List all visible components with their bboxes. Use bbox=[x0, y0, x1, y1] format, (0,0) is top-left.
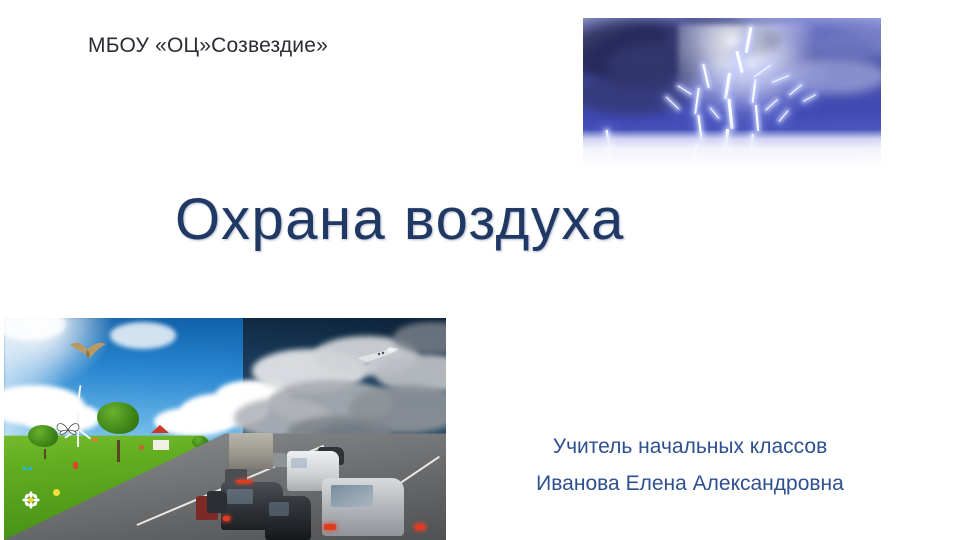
bird-icon bbox=[68, 338, 108, 364]
suv-rear-window bbox=[227, 489, 253, 504]
storm-cloud bbox=[815, 30, 881, 60]
car-side-window bbox=[269, 502, 289, 516]
author-name: Иванова Елена Александровна bbox=[480, 465, 900, 502]
bush-trunk bbox=[44, 449, 46, 459]
tail-light bbox=[415, 524, 425, 530]
dark-car bbox=[207, 491, 227, 513]
house-roof bbox=[151, 425, 169, 433]
tree-trunk bbox=[117, 440, 120, 462]
yellow-flower bbox=[53, 489, 60, 496]
storm-lightning-image bbox=[583, 18, 881, 170]
truck-body bbox=[229, 433, 273, 469]
author-block: Учитель начальных классов Иванова Елена … bbox=[480, 428, 900, 502]
daisy-flower-icon bbox=[22, 491, 40, 509]
butterfly-icon bbox=[55, 420, 81, 440]
storm-horizon-reflection bbox=[583, 130, 881, 170]
author-role: Учитель начальных классов bbox=[480, 428, 900, 465]
bush bbox=[28, 425, 58, 447]
airplane-icon bbox=[353, 342, 401, 366]
house-body bbox=[153, 440, 169, 450]
hatchback-rear-window bbox=[331, 485, 373, 507]
tail-light bbox=[223, 516, 230, 521]
butterfly-icon bbox=[22, 465, 33, 474]
brake-light bbox=[236, 480, 252, 483]
van-window bbox=[291, 458, 307, 468]
red-flower bbox=[73, 462, 78, 469]
air-pollution-image bbox=[4, 318, 446, 540]
page-title: Охрана воздуха bbox=[0, 186, 800, 253]
presentation-slide: МБОУ «ОЦ»Созвездие» bbox=[0, 0, 960, 540]
organisation-name: МБОУ «ОЦ»Созвездие» bbox=[88, 34, 328, 58]
white-cloud bbox=[110, 322, 176, 349]
hen bbox=[139, 445, 144, 450]
orange-flower bbox=[92, 438, 98, 442]
tail-light bbox=[324, 524, 336, 530]
